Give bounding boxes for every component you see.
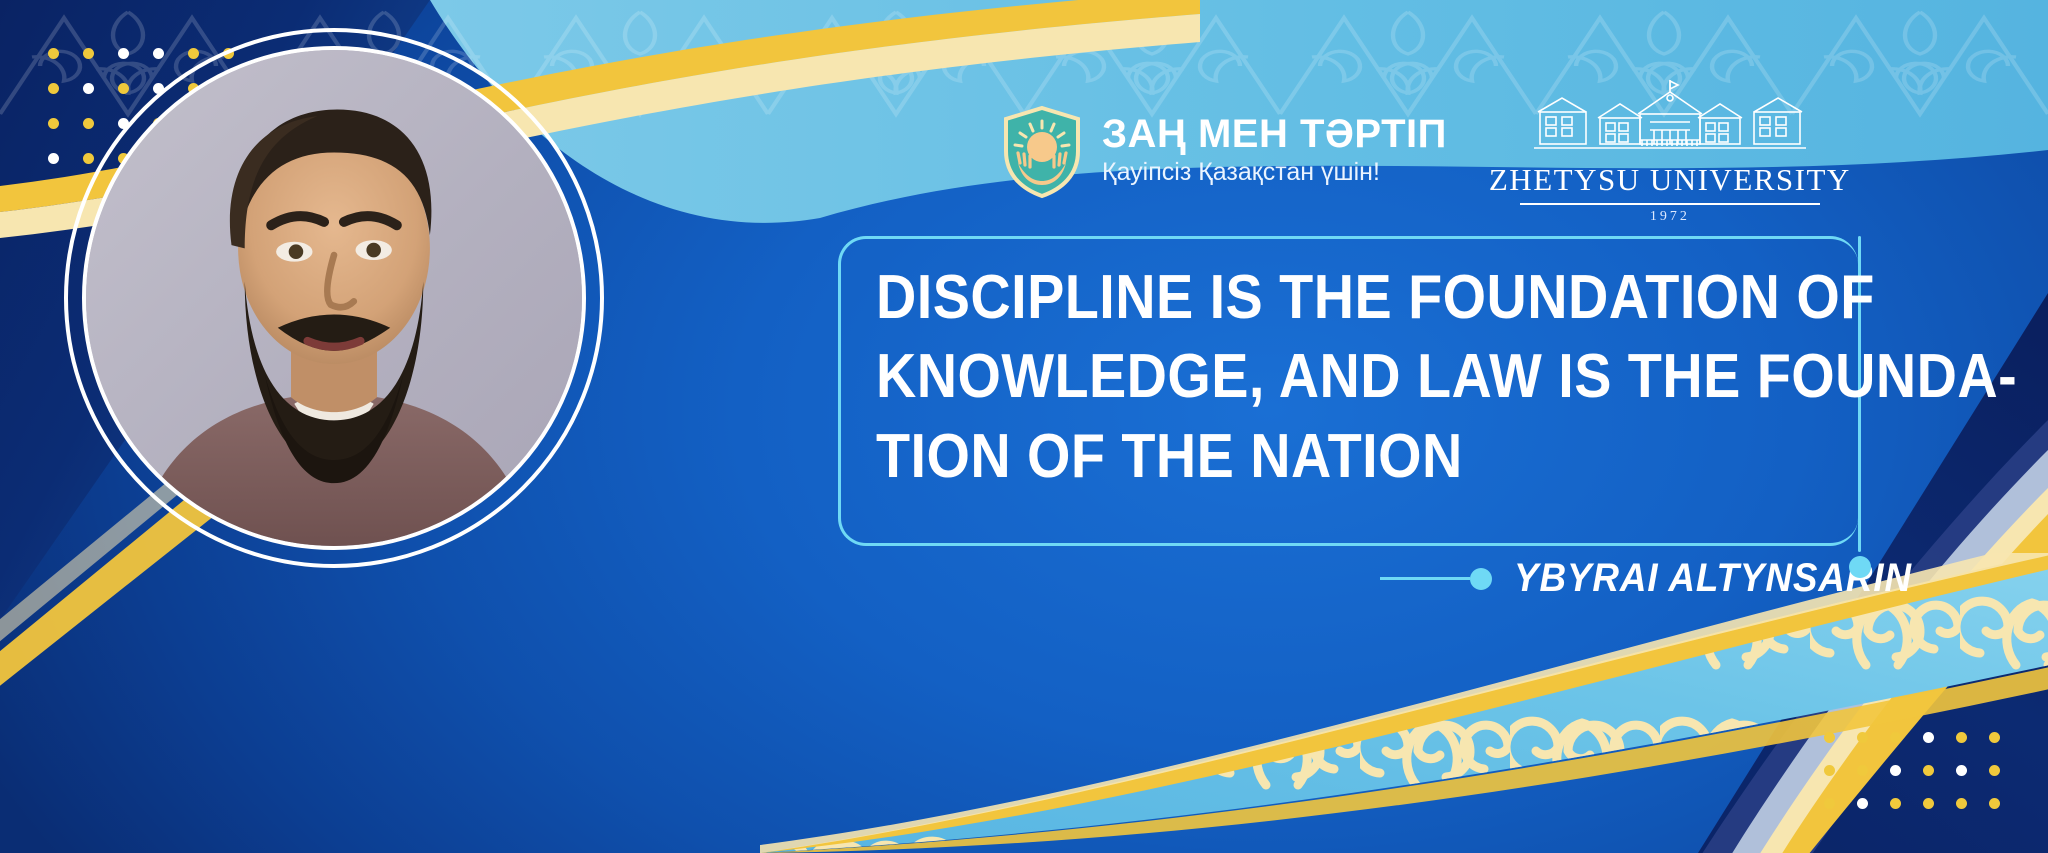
decor-dot [1824, 765, 1835, 776]
logo-row: ЗАҢ МЕН ТӘРТІП Қауіпсіз Қазақстан үшін! [1000, 78, 1851, 225]
decor-dot [1890, 765, 1901, 776]
promotional-banner: ЗАҢ МЕН ТӘРТІП Қауіпсіз Қазақстан үшін! [0, 0, 2048, 853]
zhetysu-university-logo: ZHETYSU UNIVERSITY 1972 [1489, 78, 1851, 225]
decor-dot [1890, 798, 1901, 809]
decor-dot [1923, 798, 1934, 809]
decor-dot [1890, 732, 1901, 743]
decor-dot [48, 83, 59, 94]
attribution-connector-line [1380, 577, 1470, 580]
shield-sun-hands-icon [1000, 105, 1084, 199]
dot-grid-bottom-right [1824, 732, 2000, 809]
university-rule [1520, 203, 1820, 205]
zan-men-tartip-logo: ЗАҢ МЕН ТӘРТІП Қауіпсіз Қазақстан үшін! [1000, 105, 1447, 199]
university-name: ZHETYSU UNIVERSITY [1489, 162, 1851, 198]
portrait-ybyrai-altynsarin [86, 50, 582, 546]
quote-line: DISCIPLINE IS THE FOUNDATION OF [876, 258, 1767, 337]
frame-end-dot-icon [1849, 556, 1871, 578]
decor-dot [1956, 765, 1967, 776]
quote-line: KNOWLEDGE, AND LAW IS THE FOUNDA- [876, 337, 1767, 416]
decor-dot [1923, 732, 1934, 743]
decor-dot [1956, 732, 1967, 743]
decor-dot [1857, 732, 1868, 743]
attribution-dot-icon [1470, 568, 1492, 590]
emblem-subtitle: Қауіпсіз Қазақстан үшін! [1102, 157, 1447, 188]
university-building-icon [1520, 78, 1820, 158]
decor-dot [1824, 732, 1835, 743]
decor-dot [48, 118, 59, 129]
decor-dot [48, 153, 59, 164]
decor-dot [1956, 798, 1967, 809]
emblem-title: ЗАҢ МЕН ТӘРТІП [1102, 114, 1447, 155]
decor-dot [1824, 798, 1835, 809]
decor-dot [1857, 765, 1868, 776]
zan-men-tartip-text: ЗАҢ МЕН ТӘРТІП Қауіпсіз Қазақстан үшін! [1102, 114, 1447, 188]
quote-line: TION OF THE NATION [876, 417, 1767, 496]
decor-dot [1923, 765, 1934, 776]
decor-dot [1989, 765, 2000, 776]
portrait-ring-inner [82, 46, 586, 550]
decor-dot [48, 48, 59, 59]
quote-text: DISCIPLINE IS THE FOUNDATION OF KNOWLEDG… [876, 258, 1767, 496]
university-year: 1972 [1650, 209, 1690, 225]
decor-dot [1857, 798, 1868, 809]
decor-dot [1989, 798, 2000, 809]
portrait-frame [64, 28, 604, 568]
decor-dot [1989, 732, 2000, 743]
